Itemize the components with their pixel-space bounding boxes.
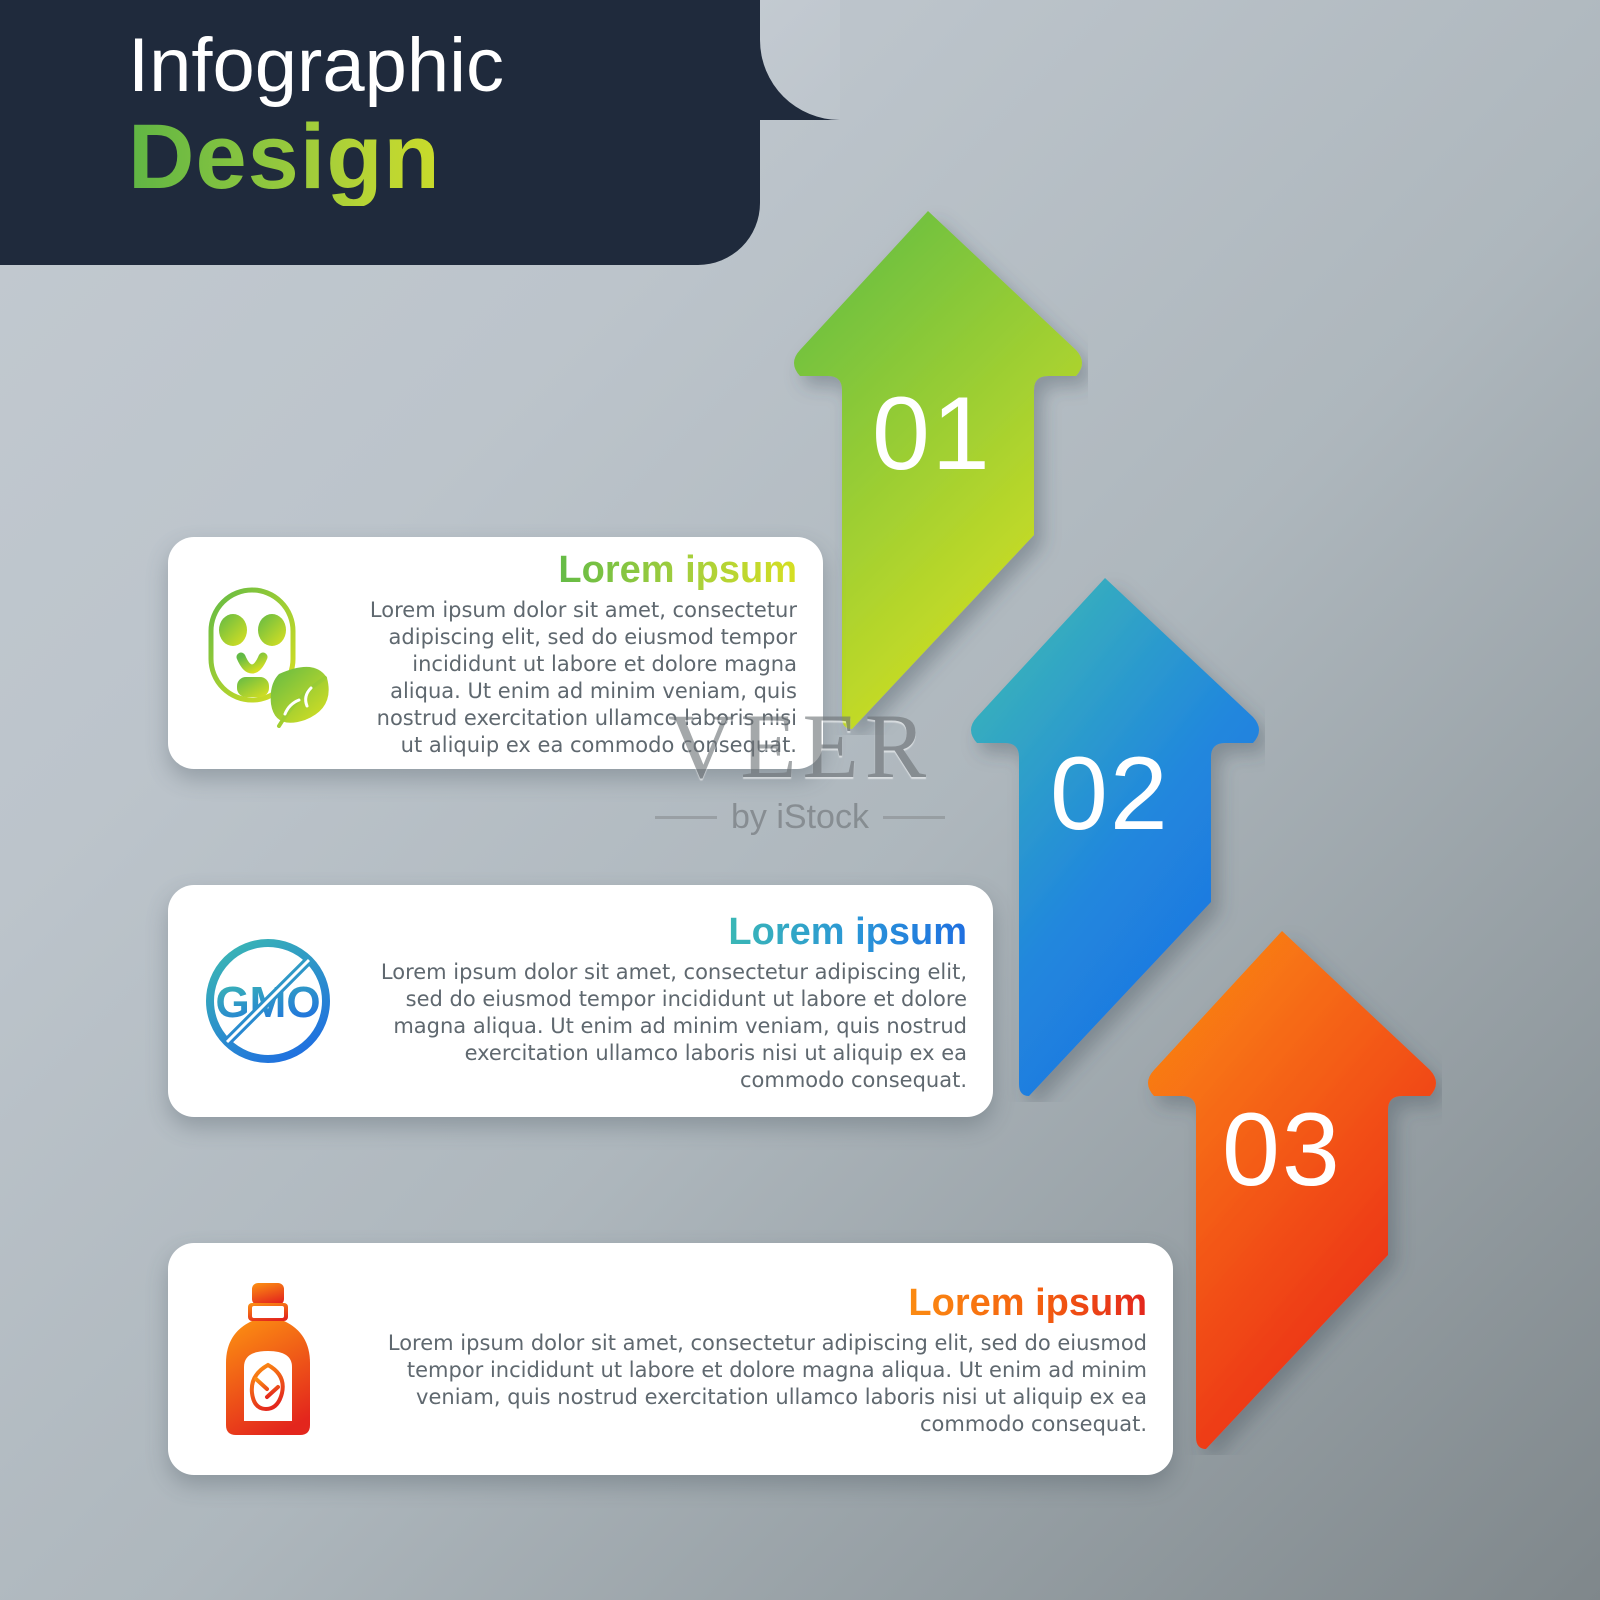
info-card-1[interactable]: Lorem ipsum Lorem ipsum dolor sit amet, … [168,537,823,769]
watermark-rule-right [883,816,945,819]
card-3-icon-wrap [168,1279,368,1439]
page-title-secondary: Design [128,108,504,206]
card-1-heading: Lorem ipsum [558,547,797,593]
card-1-icon-wrap [168,578,368,728]
card-3-text: Lorem ipsum Lorem ipsum dolor sit amet, … [368,1280,1173,1438]
card-2-body: Lorem ipsum dolor sit amet, consectetur … [368,959,967,1094]
card-2-icon-wrap: GMO [168,931,368,1071]
card-1-text: Lorem ipsum Lorem ipsum dolor sit amet, … [368,547,823,759]
info-card-3[interactable]: Lorem ipsum Lorem ipsum dolor sit amet, … [168,1243,1173,1475]
info-card-2[interactable]: GMO Lorem ipsum Lorem ipsum dolor sit am… [168,885,993,1117]
card-3-heading: Lorem ipsum [908,1280,1147,1326]
watermark-attribution: by iStock [731,798,869,837]
card-2-text: Lorem ipsum Lorem ipsum dolor sit amet, … [368,909,993,1094]
no-gmo-icon: GMO [198,931,338,1071]
face-mask-leaf-icon [193,578,343,728]
watermark-rule-left [655,816,717,819]
title-block: Infographic Design [128,24,504,206]
card-2-heading: Lorem ipsum [728,909,967,955]
bottle-leaf-icon [208,1279,328,1439]
card-1-body: Lorem ipsum dolor sit amet, consectetur … [368,597,797,759]
card-3-body: Lorem ipsum dolor sit amet, consectetur … [368,1330,1147,1438]
header-corner-notch [760,0,840,120]
infographic-canvas: Infographic Design 01 [0,0,1600,1600]
page-title-primary: Infographic [128,24,504,108]
